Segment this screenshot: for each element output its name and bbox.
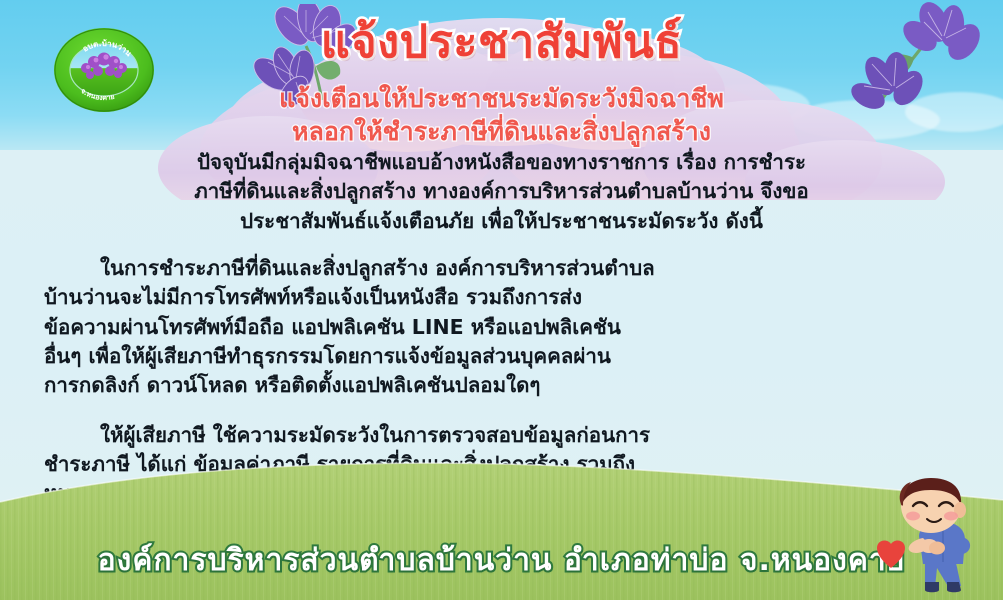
announcement-poster: อบต.บ้านว่าน จ.หนองคาย แจ้งประชาสัมพันธ์…: [0, 0, 1003, 600]
heart-icon: [877, 541, 905, 568]
paragraph-2: ในการชำระภาษีที่ดินและสิ่งปลูกสร้าง องค์…: [0, 254, 1003, 401]
page-title: แจ้งประชาสัมพันธ์: [321, 18, 683, 67]
paragraph-3-line-1: ให้ผู้เสียภาษี ใช้ความระมัดระวังในการตรว…: [44, 421, 963, 450]
paragraph-2-line-2: บ้านว่านจะไม่มีการโทรศัพท์หรือแจ้งเป็นหน…: [44, 283, 963, 312]
paragraph-2-line-3: ข้อความผ่านโทรศัพท์มือถือ แอปพลิเคชัน LI…: [44, 313, 963, 342]
subtitle-line-1: แจ้งเตือนให้ประชาชนระมัดระวังมิจฉาชีพ: [0, 82, 1003, 115]
paragraph-2-line-5: การกดลิงก์ ดาวน์โหลด หรือติดตั้งแอปพลิเค…: [44, 371, 963, 400]
paragraph-1-line-2: ภาษีที่ดินและสิ่งปลูกสร้าง ทางองค์การบริ…: [24, 177, 979, 206]
paragraph-2-line-4: อื่นๆ เพื่อให้ผู้เสียภาษีทำธุรกรรมโดยการ…: [44, 342, 963, 371]
wai-character-icon: [851, 478, 999, 596]
paragraph-1-line-3: ประชาสัมพันธ์แจ้งเตือนภัย เพื่อให้ประชาช…: [24, 207, 979, 236]
subtitle-line-2: หลอกให้ชำระภาษีที่ดินและสิ่งปลูกสร้าง: [0, 115, 1003, 148]
paragraph-2-line-1: ในการชำระภาษีที่ดินและสิ่งปลูกสร้าง องค์…: [44, 254, 963, 283]
title-container: แจ้งประชาสัมพันธ์: [0, 18, 1003, 67]
paragraph-1-line-1: ปัจจุบันมีกลุ่มมิจฉาชีพแอบอ้างหนังสือของ…: [24, 148, 979, 177]
subtitle: แจ้งเตือนให้ประชาชนระมัดระวังมิจฉาชีพ หล…: [0, 82, 1003, 148]
paragraph-1: ปัจจุบันมีกลุ่มมิจฉาชีพแอบอ้างหนังสือของ…: [0, 148, 1003, 236]
